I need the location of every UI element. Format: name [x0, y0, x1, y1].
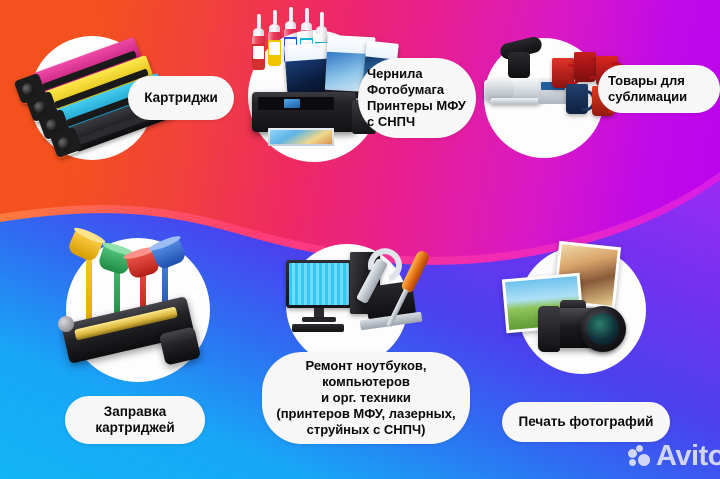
- art-computer-repair: [282, 240, 442, 366]
- label-ink-printers-text: Чернила Фотобумага Принтеры МФУ с СНПЧ: [367, 66, 466, 129]
- label-photo-printing[interactable]: Печать фотографий: [502, 402, 670, 442]
- avito-dots-icon: [628, 445, 652, 469]
- label-cartridges[interactable]: Картриджи: [128, 76, 234, 120]
- promo-poster: Картриджи Чернила Фотобумага Принтеры МФ…: [0, 0, 720, 479]
- avito-wordmark: Avito: [656, 442, 720, 471]
- art-toner-drum: [58, 292, 202, 378]
- label-cartridge-refill-text: Заправка картриджей: [73, 404, 197, 437]
- label-sublimation[interactable]: Товары для сублимации: [598, 65, 720, 113]
- label-photo-printing-text: Печать фотографий: [510, 414, 662, 430]
- label-cartridge-refill[interactable]: Заправка картриджей: [65, 396, 205, 444]
- label-cartridges-text: Картриджи: [134, 90, 228, 106]
- avito-watermark: Avito: [628, 442, 720, 471]
- label-sublimation-text: Товары для сублимации: [608, 73, 687, 105]
- label-ink-printers[interactable]: Чернила Фотобумага Принтеры МФУ с СНПЧ: [358, 58, 476, 138]
- label-computer-repair-text: Ремонт ноутбуков, компьютеров и орг. тех…: [270, 358, 462, 437]
- art-photo-prints: [504, 244, 634, 364]
- label-computer-repair[interactable]: Ремонт ноутбуков, компьютеров и орг. тех…: [262, 352, 470, 444]
